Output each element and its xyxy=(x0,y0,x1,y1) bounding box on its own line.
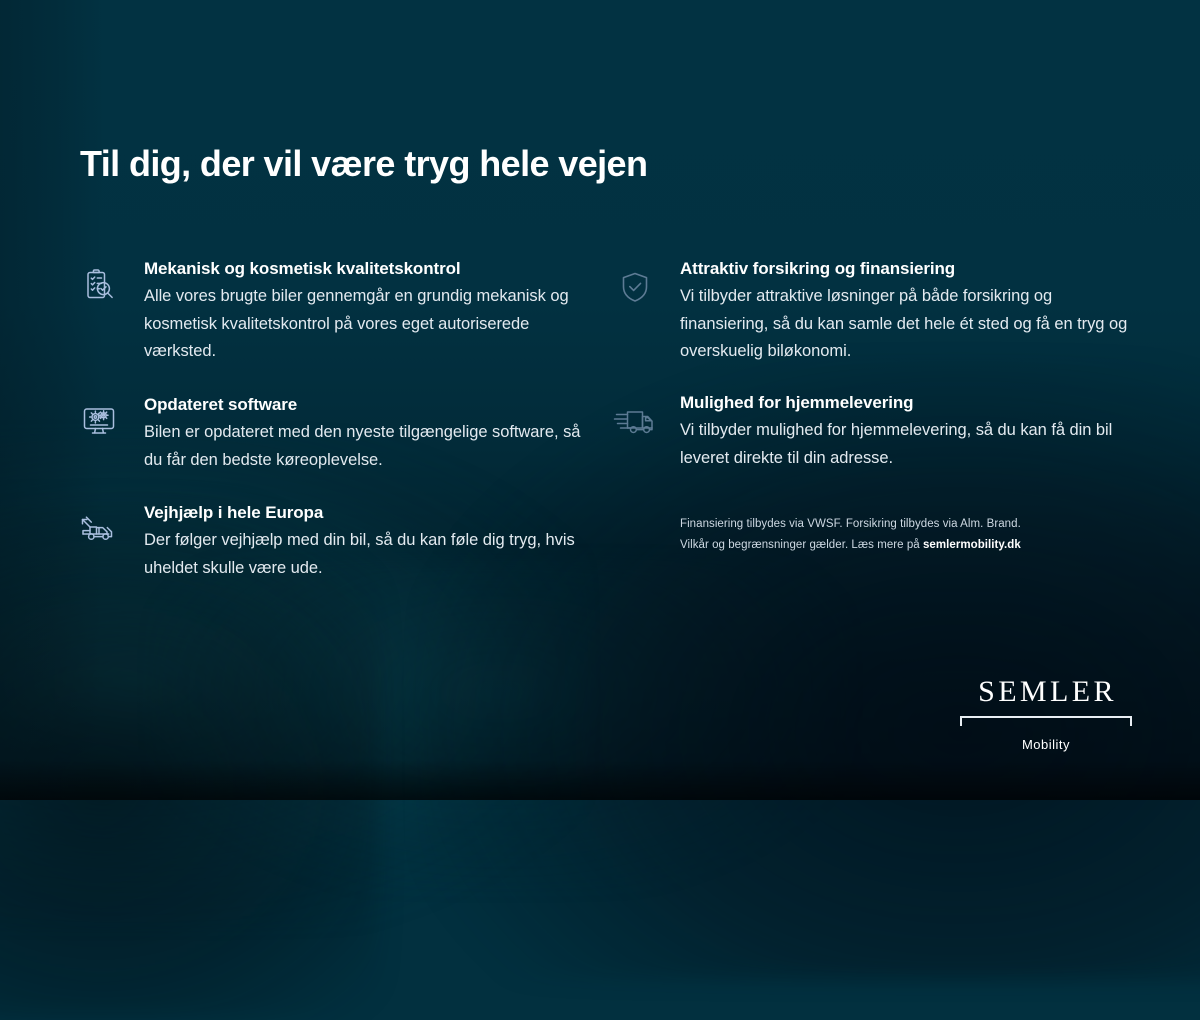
feature-body: Vi tilbyder attraktive løsninger på både… xyxy=(680,283,1134,366)
logo-divider-bar xyxy=(960,716,1132,718)
feature-body: Bilen er opdateret med den nyeste tilgæn… xyxy=(144,419,594,474)
feature-body: Alle vores brugte biler gennemgår en gru… xyxy=(144,283,594,366)
clipboard-check-magnifier-icon xyxy=(78,264,120,306)
feature-item-home-delivery: Mulighed for hjemmelevering Vi tilbyder … xyxy=(610,392,1134,472)
logo-wordmark: SEMLER xyxy=(958,677,1134,707)
disclaimer-line-2-text: Vilkår og begrænsninger gælder. Læs mere… xyxy=(680,539,923,551)
delivery-truck-icon xyxy=(614,400,656,442)
tow-truck-icon xyxy=(78,508,120,550)
disclaimer-line-2: Vilkår og begrænsninger gælder. Læs mere… xyxy=(680,535,1134,555)
feature-item-software-update: Opdateret software Bilen er opdateret me… xyxy=(74,394,594,474)
shield-check-icon xyxy=(614,266,656,308)
feature-title: Attraktiv forsikring og finansiering xyxy=(680,258,1134,281)
feature-item-quality-control: Mekanisk og kosmetisk kvalitetskontrol A… xyxy=(74,258,594,366)
feature-title: Mekanisk og kosmetisk kvalitetskontrol xyxy=(144,258,594,281)
disclaimer-website-link[interactable]: semlermobility.dk xyxy=(923,539,1021,551)
feature-title: Vejhjælp i hele Europa xyxy=(144,502,594,525)
feature-item-insurance-financing: Attraktiv forsikring og finansiering Vi … xyxy=(610,258,1134,366)
legal-disclaimer: Finansiering tilbydes via VWSF. Forsikri… xyxy=(610,514,1134,554)
logo-subtitle: Mobility xyxy=(958,737,1134,752)
monitor-gears-icon xyxy=(78,400,120,442)
feature-body: Der følger vejhjælp med din bil, så du k… xyxy=(144,527,594,582)
feature-body: Vi tilbyder mulighed for hjemmelevering,… xyxy=(680,417,1134,472)
disclaimer-line-1: Finansiering tilbydes via VWSF. Forsikri… xyxy=(680,514,1134,534)
page-title: Til dig, der vil være tryg hele vejen xyxy=(80,143,647,185)
feature-column-right: Attraktiv forsikring og finansiering Vi … xyxy=(610,258,1134,555)
slide-content: Til dig, der vil være tryg hele vejen xyxy=(0,0,1200,800)
logo-divider xyxy=(960,716,1132,728)
feature-title: Opdateret software xyxy=(144,394,594,417)
feature-column-left: Mekanisk og kosmetisk kvalitetskontrol A… xyxy=(74,258,594,583)
feature-title: Mulighed for hjemmelevering xyxy=(680,392,1134,415)
logo-divider-cap-right xyxy=(1130,716,1132,726)
feature-item-roadside-assistance: Vejhjælp i hele Europa Der følger vejhjæ… xyxy=(74,502,594,582)
semler-mobility-logo: SEMLER Mobility xyxy=(958,677,1134,752)
